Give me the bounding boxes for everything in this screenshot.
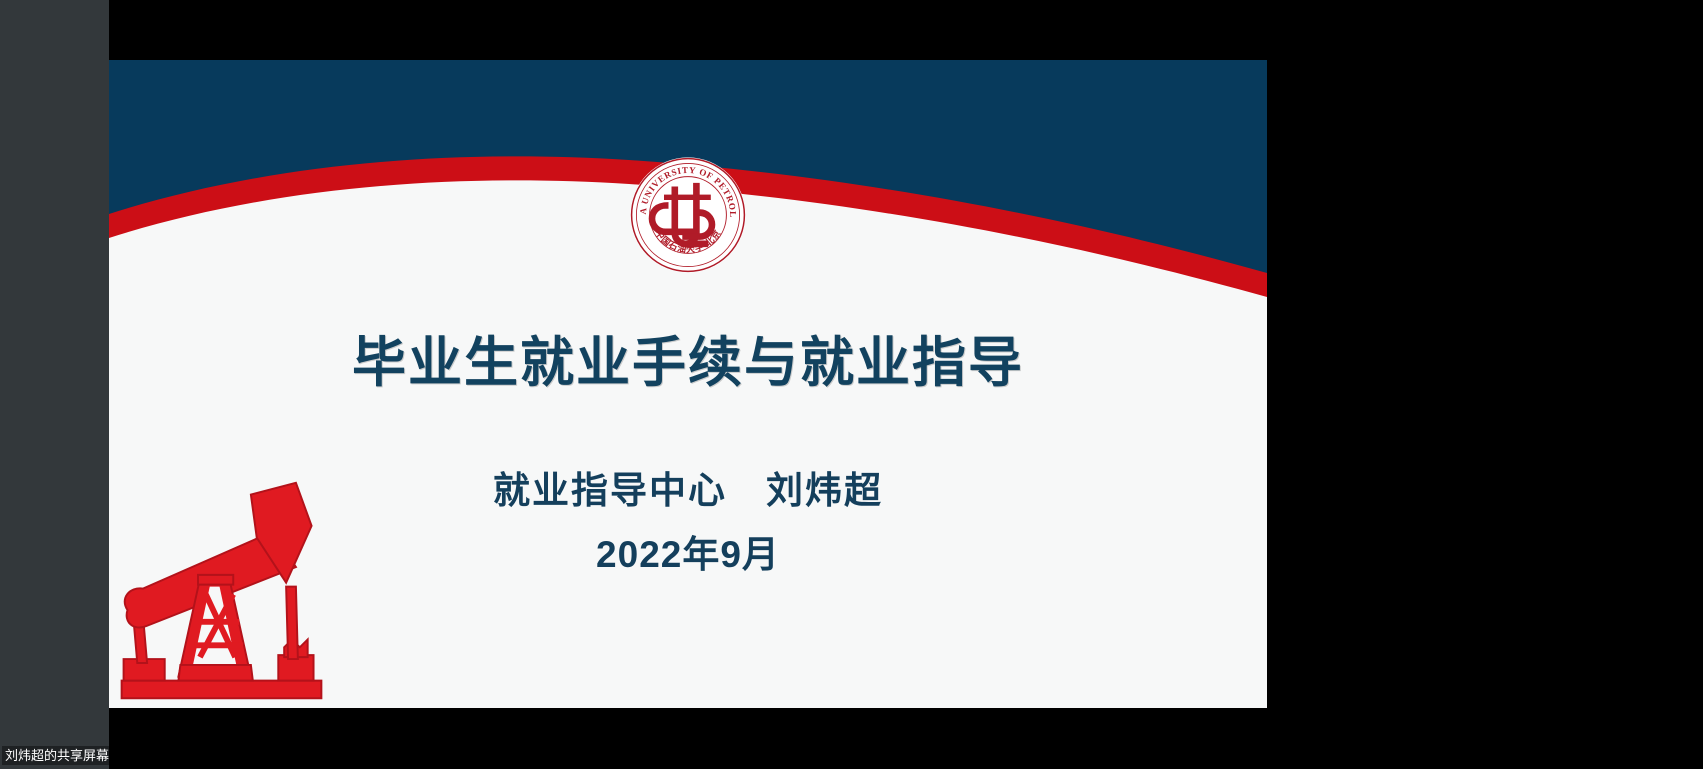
logo-year: 1953: [681, 245, 695, 252]
participant-strip: 刘炜超: [1379, 0, 1703, 769]
share-screen-label: 刘炜超的共享屏幕: [2, 746, 112, 765]
desktop-gutter-left: [0, 0, 110, 769]
zoom-screen-share-window: CHINA UNIVERSITY OF PETROLEUM 中国石油大学·北京 …: [0, 0, 1703, 769]
shared-slide[interactable]: CHINA UNIVERSITY OF PETROLEUM 中国石油大学·北京 …: [109, 60, 1267, 708]
university-logo-icon: CHINA UNIVERSITY OF PETROLEUM 中国石油大学·北京 …: [628, 155, 748, 275]
oil-pumpjack-icon: [109, 473, 339, 708]
slide-title: 毕业生就业手续与就业指导: [109, 318, 1267, 397]
